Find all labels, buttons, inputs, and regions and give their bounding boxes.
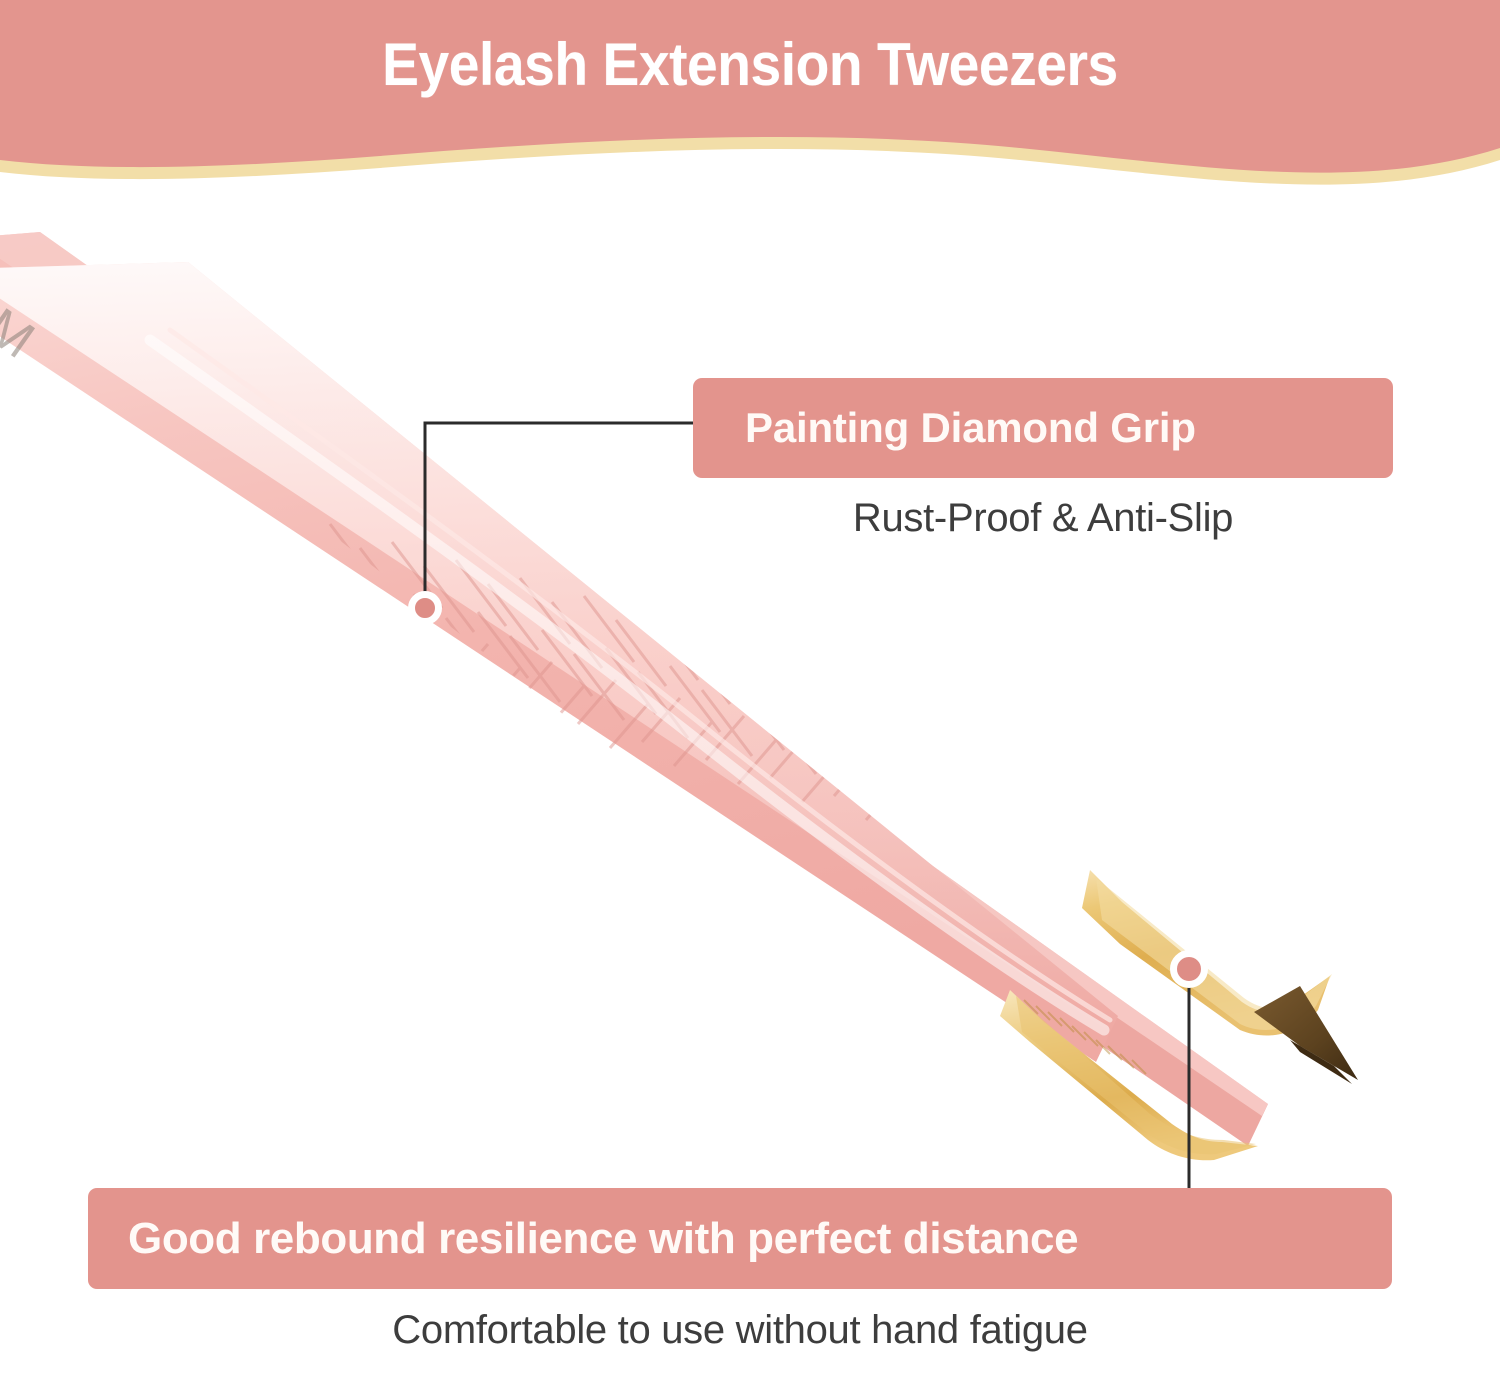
callout-painting-diamond-grip: Painting Diamond Grip: [693, 378, 1393, 478]
grip-marker-dot: [408, 591, 442, 625]
callout-subtitle-grip: Rust-Proof & Anti-Slip: [693, 496, 1393, 541]
brand-mark: Ms.W: [0, 246, 44, 370]
tip-marker-dot: [1170, 950, 1208, 988]
leader-line-grip: [425, 423, 697, 606]
page-title: Eyelash Extension Tweezers: [60, 30, 1440, 99]
callout-title-rebound: Good rebound resilience with perfect dis…: [128, 1214, 1078, 1264]
tweezer-upper-arm: [0, 232, 1268, 1146]
callout-subtitle-rebound: Comfortable to use without hand fatigue: [88, 1308, 1392, 1353]
product-infographic: Eyelash Extension Tweezers: [0, 0, 1500, 1379]
svg-text:Ms.W: Ms.W: [0, 246, 44, 370]
diamond-grip-texture: [258, 524, 1082, 856]
callout-good-rebound-resilience: Good rebound resilience with perfect dis…: [88, 1188, 1392, 1289]
header-band: Eyelash Extension Tweezers: [0, 0, 1500, 215]
gold-tip-lower: [1000, 990, 1258, 1160]
callout-title-grip: Painting Diamond Grip: [745, 404, 1196, 452]
gold-tip-upper: [1082, 870, 1358, 1084]
